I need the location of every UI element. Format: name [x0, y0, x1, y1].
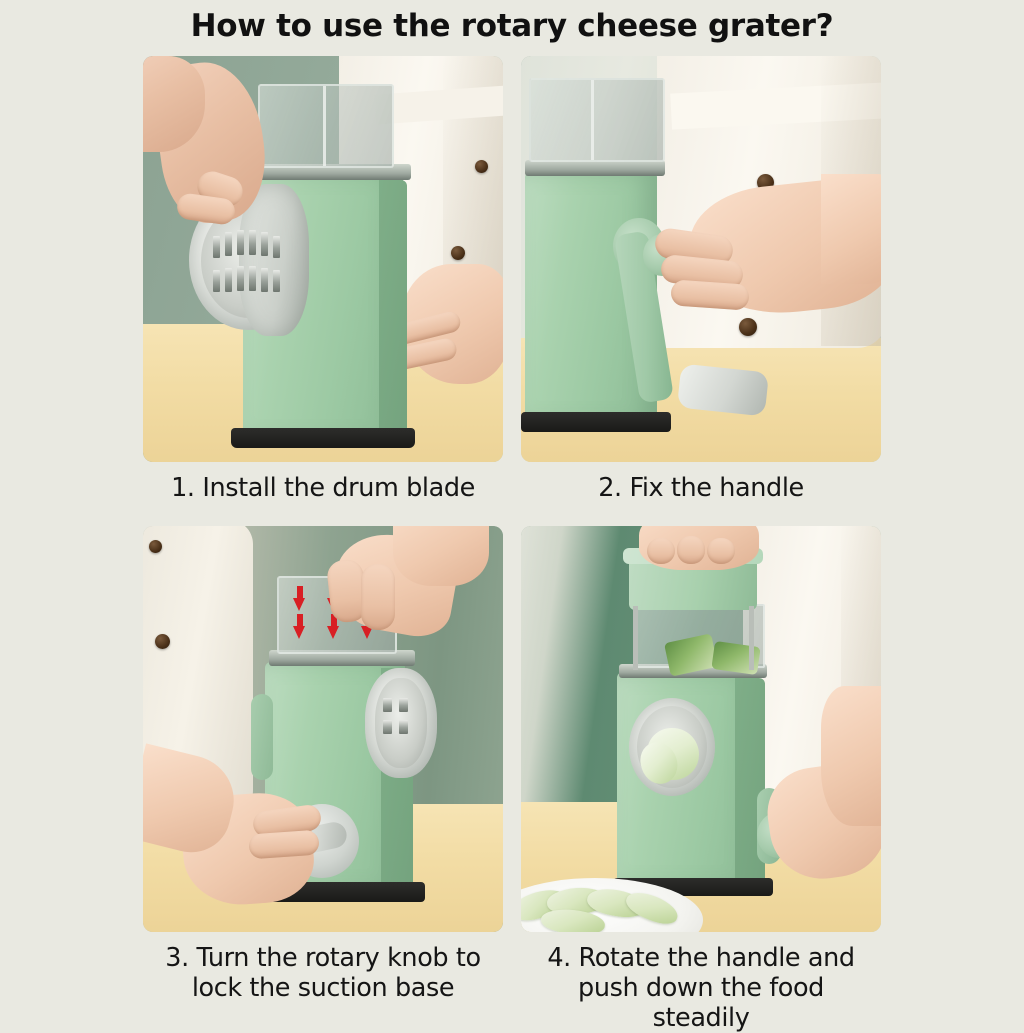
blade-slot [213, 270, 220, 292]
step-card-4: 4. Rotate the handle and push down the f… [521, 526, 881, 1033]
step-4-caption: 4. Rotate the handle and push down the f… [521, 943, 881, 1033]
finger [647, 538, 675, 564]
finger [677, 536, 705, 564]
arrow-head [293, 598, 305, 611]
crank-knob [677, 364, 769, 417]
hopper-chute-divider [323, 86, 326, 166]
blade-slot [383, 698, 392, 712]
down-arrow-icon [293, 586, 306, 611]
forearm [393, 526, 489, 586]
garment-button-icon [451, 246, 465, 260]
crank-arm [251, 694, 273, 780]
hopper-chute-divider [591, 80, 594, 160]
page-title: How to use the rotary cheese grater? [0, 8, 1024, 44]
step-3-caption: 3. Turn the rotary knob to lock the suct… [143, 943, 503, 1003]
blade-slot [383, 720, 392, 734]
forearm [821, 686, 881, 826]
blade-slot [399, 698, 408, 712]
grater-base-foot [521, 412, 671, 432]
blade-slot [237, 230, 244, 255]
blade-slot [273, 236, 280, 258]
arrow-head [327, 626, 339, 639]
finger [670, 279, 750, 310]
blade-slot [273, 270, 280, 292]
step-2-caption: 2. Fix the handle [521, 473, 881, 503]
garment-button-icon [739, 318, 757, 336]
step-3-photo [143, 526, 503, 932]
blade-slot [249, 266, 256, 291]
garment-button-icon [155, 634, 170, 649]
forearm [821, 174, 881, 284]
finger [361, 564, 395, 630]
pusher-rail [749, 606, 754, 670]
step-card-1: 1. Install the drum blade [143, 56, 503, 503]
hopper-chute [258, 84, 394, 168]
garment-button-icon [475, 160, 488, 173]
arrow-head [293, 626, 305, 639]
blade-slot [237, 266, 244, 291]
grater-body-side [379, 180, 407, 438]
finger [248, 830, 320, 860]
finger [707, 538, 735, 564]
blade-slot [399, 720, 408, 734]
step-1-photo [143, 56, 503, 462]
step-4-photo [521, 526, 881, 932]
blade-slot [225, 232, 232, 256]
blade-slot [261, 232, 268, 256]
blade-slot [261, 268, 268, 292]
blade-slot [249, 230, 256, 255]
garment-button-icon [149, 540, 162, 553]
grater-base-foot [231, 428, 415, 448]
steps-grid: 1. Install the drum blade [143, 56, 883, 986]
blade-slot [225, 268, 232, 292]
down-arrow-icon [293, 614, 306, 639]
step-card-3: 3. Turn the rotary knob to lock the suct… [143, 526, 503, 1003]
blade-slot [213, 236, 220, 258]
step-1-caption: 1. Install the drum blade [143, 473, 503, 503]
step-2-photo [521, 56, 881, 462]
hopper-chute [529, 78, 665, 162]
hopper-rim [525, 160, 665, 176]
pusher-rail [633, 606, 638, 670]
infographic-page: How to use the rotary cheese grater? [0, 0, 1024, 1024]
step-card-2: 2. Fix the handle [521, 56, 881, 503]
